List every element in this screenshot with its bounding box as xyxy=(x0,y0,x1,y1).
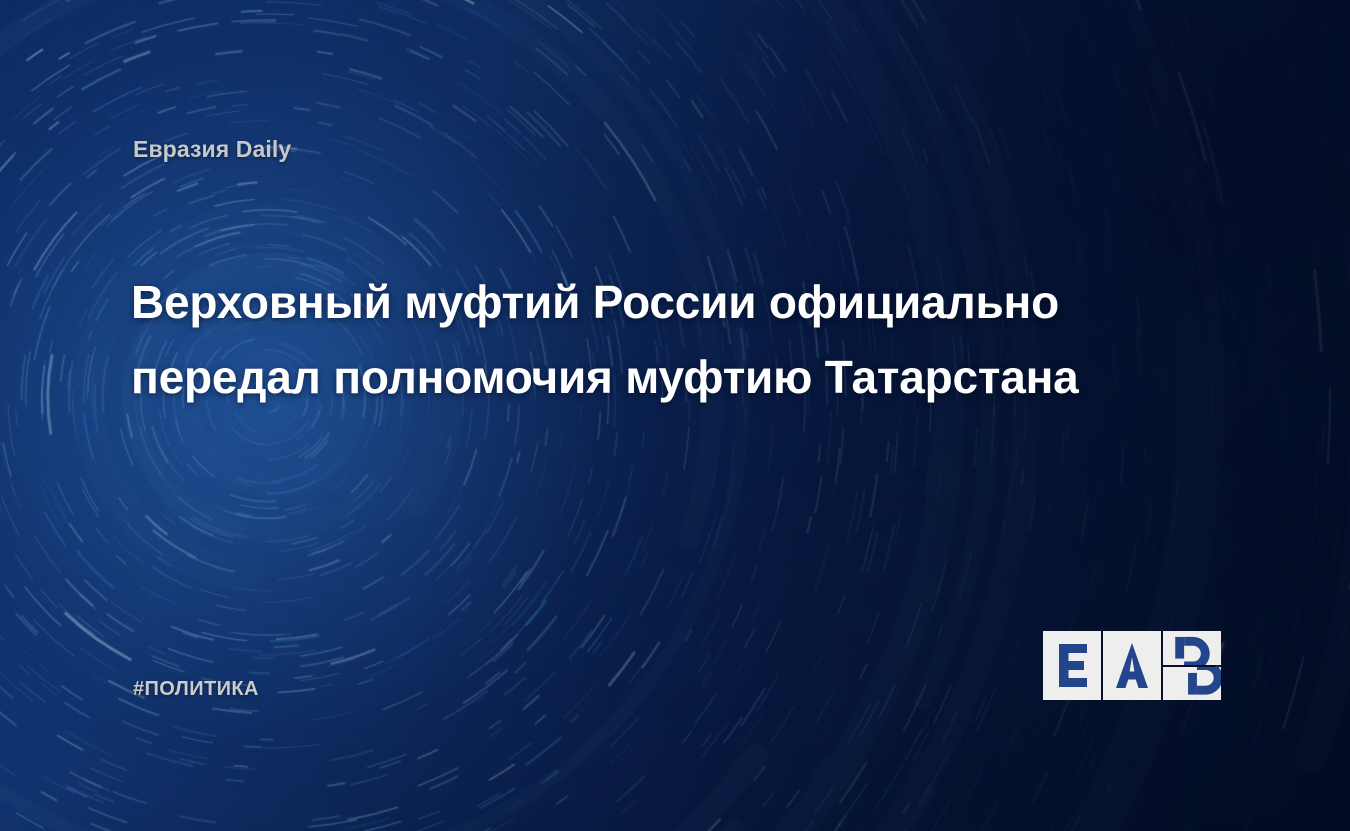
card-content: Евразия Daily Верховный муфтий России оф… xyxy=(0,0,1350,831)
eadaily-logo[interactable] xyxy=(1043,631,1221,700)
logo-split-d-icon xyxy=(1163,631,1221,700)
headline[interactable]: Верховный муфтий России официально перед… xyxy=(131,265,1221,415)
topic-tag[interactable]: #ПОЛИТИКА xyxy=(133,678,259,701)
logo-letter-e-icon xyxy=(1043,631,1101,700)
brand-name[interactable]: Евразия Daily xyxy=(133,136,291,163)
logo-split-d-top-half xyxy=(1163,631,1221,665)
logo-split-d-bottom-half xyxy=(1163,667,1221,701)
logo-letter-a-icon xyxy=(1103,631,1161,700)
news-card: Евразия Daily Верховный муфтий России оф… xyxy=(0,0,1350,831)
